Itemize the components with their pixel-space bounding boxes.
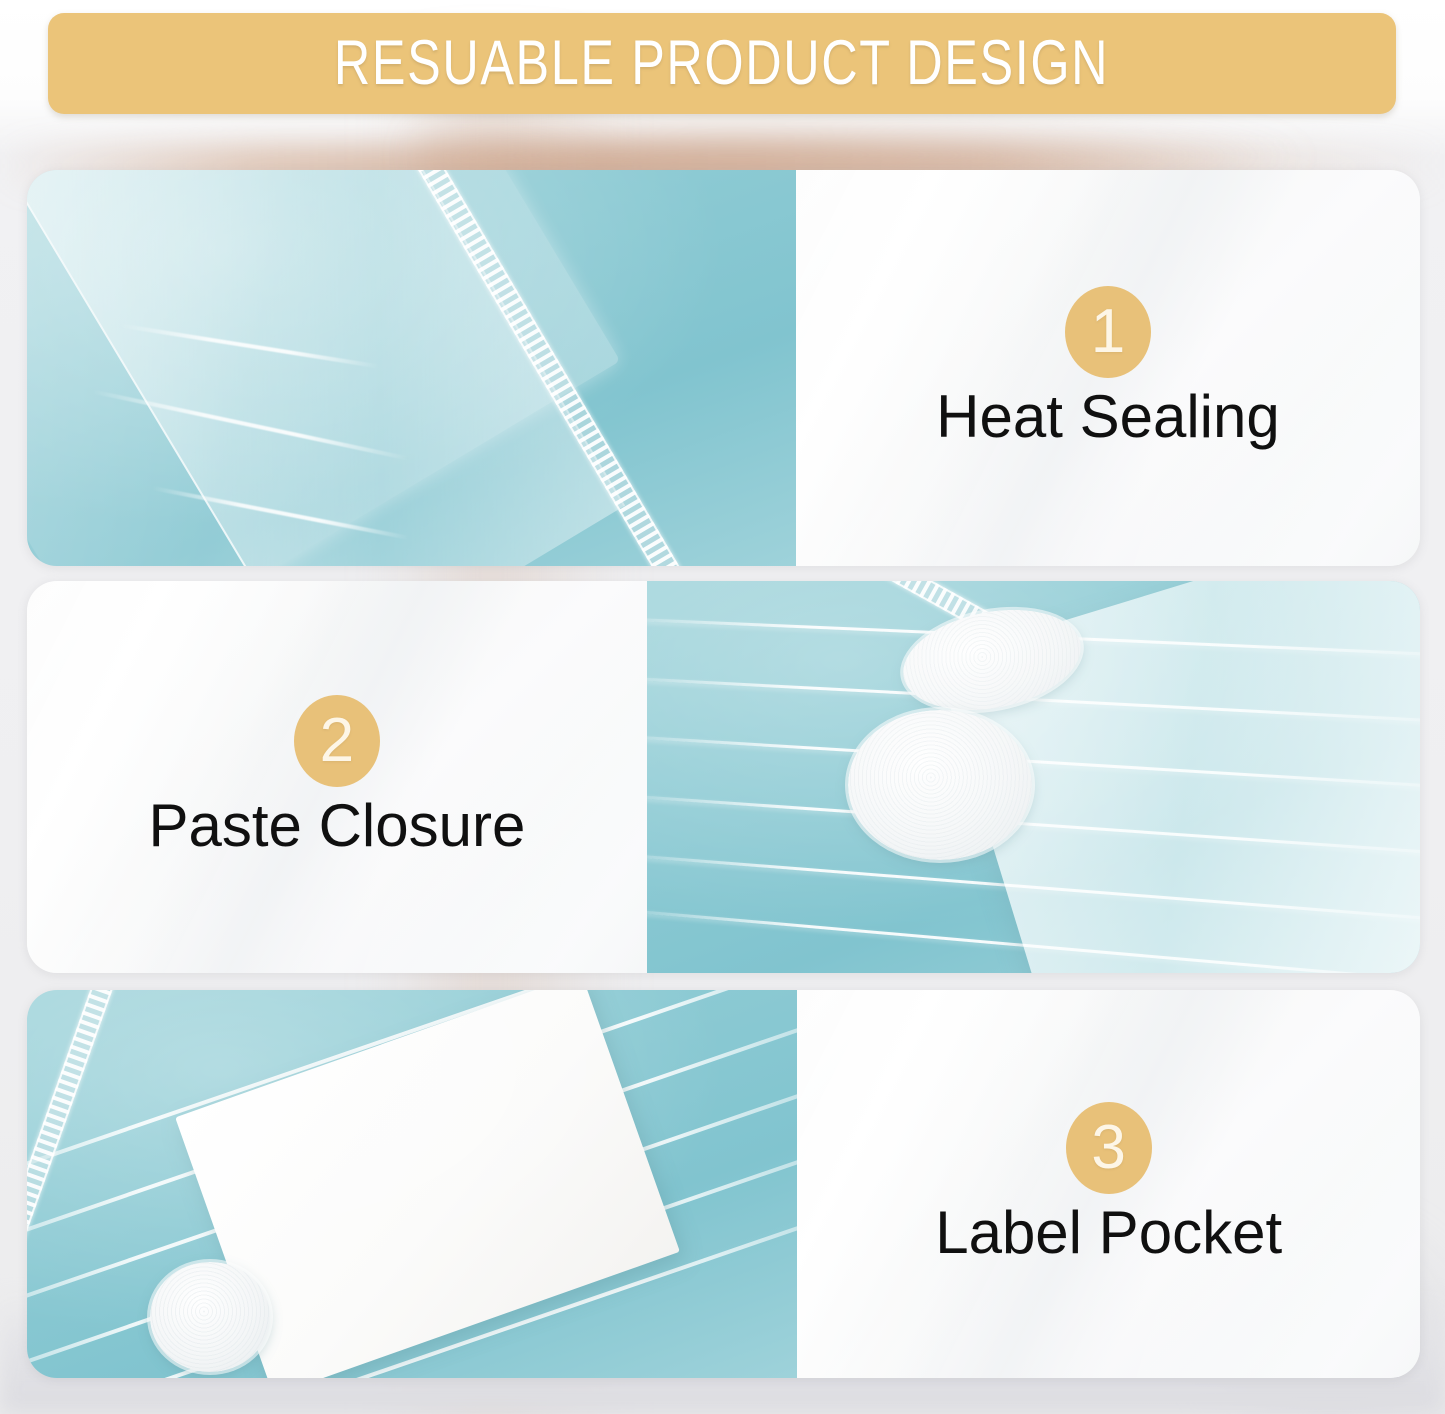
plastic-sheet-front xyxy=(27,170,625,566)
step-1-caption: 1 Heat Sealing xyxy=(796,170,1420,566)
banner-title: RESUABLE PRODUCT DESIGN xyxy=(334,32,1109,95)
step-2-caption-inner: 2 Paste Closure xyxy=(149,695,526,859)
gloss-highlight xyxy=(92,390,409,461)
bag-stripe xyxy=(27,1105,797,1378)
gloss-highlight xyxy=(121,324,380,369)
white-label-card xyxy=(175,990,680,1378)
velcro-dot-hook xyxy=(894,596,1089,725)
product-design-infographic: RESUABLE PRODUCT DESIGN 1 Heat Sealing xyxy=(0,0,1445,1414)
label-pocket-zipper-strip xyxy=(27,990,124,1378)
bag-stripe xyxy=(27,990,797,1287)
step-3-label: Label Pocket xyxy=(935,1200,1282,1266)
heat-seal-zipper-strip xyxy=(381,170,683,566)
step-panel-3: 3 Label Pocket xyxy=(27,990,1420,1378)
plastic-sheet-back xyxy=(27,170,620,566)
step-2-caption: 2 Paste Closure xyxy=(27,581,647,973)
step-2-number-badge: 2 xyxy=(294,695,380,787)
bag-stripe xyxy=(27,1039,797,1378)
bag-stripe xyxy=(27,990,797,1221)
step-1-caption-inner: 1 Heat Sealing xyxy=(936,286,1280,450)
bag-stripe xyxy=(647,676,1420,724)
step-1-number: 1 xyxy=(1091,301,1125,363)
step-3-number-badge: 3 xyxy=(1066,1102,1152,1194)
step-1-number-badge: 1 xyxy=(1065,286,1151,378)
bag-stripe xyxy=(27,1171,797,1378)
step-3-photo-white-label-card-in-clear-pocket-with-velcro-dot xyxy=(27,990,797,1378)
bag-stripe xyxy=(647,617,1420,658)
bag-stripe xyxy=(647,908,1420,973)
step-1-photo-clear-plastic-folder-heat-sealed-edge xyxy=(27,170,796,566)
step-2-number: 2 xyxy=(320,710,354,772)
zipper-strip xyxy=(848,581,1022,649)
step-panel-1: 1 Heat Sealing xyxy=(27,170,1420,566)
bag-stripe xyxy=(647,735,1420,791)
header-banner: RESUABLE PRODUCT DESIGN xyxy=(48,13,1396,114)
step-3-caption-inner: 3 Label Pocket xyxy=(935,1102,1282,1266)
step-panel-2: 2 Paste Closure xyxy=(27,581,1420,973)
velcro-dot-loop xyxy=(848,710,1032,860)
bag-stripe xyxy=(647,853,1420,924)
step-1-label: Heat Sealing xyxy=(936,384,1280,450)
step-3-caption: 3 Label Pocket xyxy=(797,990,1420,1378)
gloss-highlight xyxy=(152,486,409,540)
bag-stripe xyxy=(27,990,797,1353)
velcro-dot xyxy=(150,1262,270,1372)
step-2-photo-white-velcro-hook-loop-dots-on-folder-flap xyxy=(647,581,1420,973)
step-3-number: 3 xyxy=(1091,1117,1125,1179)
step-2-label: Paste Closure xyxy=(149,793,526,859)
folder-flap xyxy=(936,581,1420,973)
bag-stripe xyxy=(647,794,1420,857)
